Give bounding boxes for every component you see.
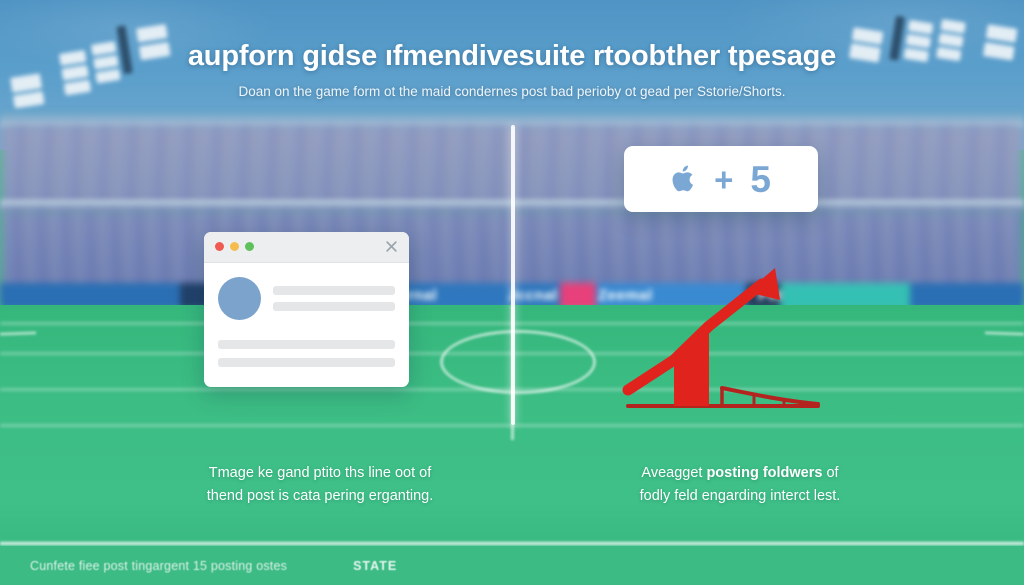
content-placeholders — [218, 340, 395, 367]
plus-operator: + — [714, 163, 733, 196]
close-dot-icon[interactable] — [215, 242, 224, 251]
left-caption-line-2: thend post is cata pering erganting. — [207, 488, 434, 504]
right-caption-tail: of — [822, 465, 838, 481]
avatar-text-placeholders — [273, 286, 395, 311]
footer-state-label: STATE — [353, 559, 397, 573]
footer-note: Cunfete fiee post tingargent 15 posting … — [30, 559, 287, 573]
stat-card[interactable]: + 5 — [624, 146, 818, 212]
page-subtitle: Doan on the game form ot the maid conder… — [0, 73, 1024, 99]
growth-arrow-chart-icon — [612, 248, 822, 420]
right-caption: Aveagget posting foldwers of fodly feld … — [570, 462, 910, 508]
infographic-canvas: Jcrnal Jccnal Zeemal Pet aupforn gidse ı… — [0, 0, 1024, 585]
pitch-center-circle — [440, 330, 596, 394]
footer-bar: Cunfete fiee post tingargent 15 posting … — [0, 546, 1024, 585]
left-caption-line-1: Tmage ke gand ptito ths line oot of — [209, 465, 431, 481]
avatar — [218, 277, 261, 320]
stat-value: 5 — [750, 161, 771, 198]
placeholder-line — [273, 286, 395, 295]
minimize-dot-icon[interactable] — [230, 242, 239, 251]
profile-row — [218, 277, 395, 320]
right-caption-lead: Aveagget — [641, 465, 706, 481]
apple-logo-icon — [671, 164, 697, 194]
traffic-light-dots — [215, 242, 254, 251]
placeholder-line — [218, 340, 395, 349]
placeholder-line — [273, 302, 395, 311]
comparison-divider — [511, 125, 515, 425]
left-caption: Tmage ke gand ptito ths line oot of then… — [150, 462, 490, 508]
browser-title-bar — [204, 232, 409, 263]
maximize-dot-icon[interactable] — [245, 242, 254, 251]
browser-content — [204, 263, 409, 367]
placeholder-line — [218, 358, 395, 367]
header: aupforn gidse ıfmendivesuite rtoobther t… — [0, 0, 1024, 99]
browser-window-mockup[interactable] — [204, 232, 409, 387]
page-title: aupforn gidse ıfmendivesuite rtoobther t… — [0, 0, 1024, 73]
right-caption-bold: posting foldwers — [706, 465, 822, 481]
close-icon[interactable] — [384, 239, 399, 254]
right-caption-line-2: fodly feld engarding interct lest. — [640, 488, 841, 504]
